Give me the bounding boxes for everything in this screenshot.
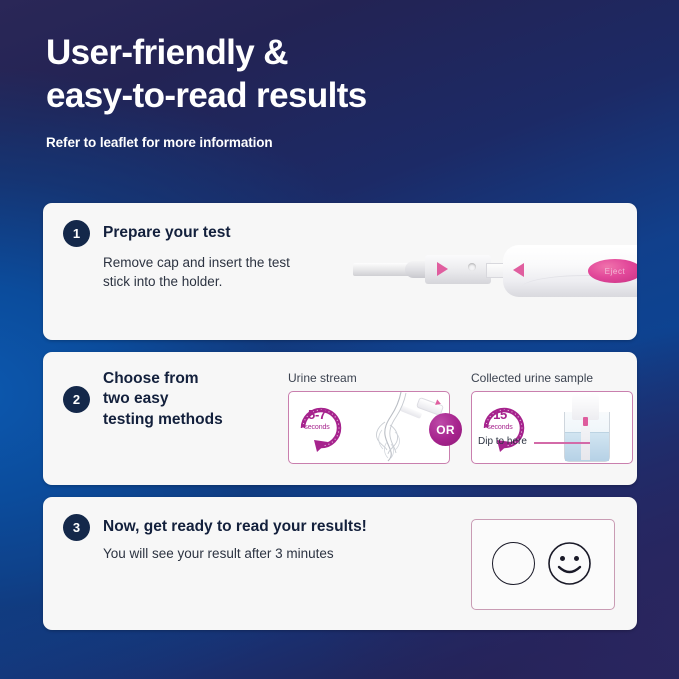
step-3-number-badge: 3 xyxy=(63,514,90,541)
timer-text-stream: 5-7 seconds xyxy=(295,407,339,431)
dip-to-here-label: Dip to here xyxy=(478,436,527,447)
step-1-number-badge: 1 xyxy=(63,220,90,247)
method-box-urine-stream: 5-7 seconds xyxy=(288,391,450,464)
step-card-2: 2 Choose from two easy testing methods U… xyxy=(43,352,637,485)
empty-circle-icon xyxy=(492,542,535,585)
step-card-1: 1 Prepare your test Remove cap and inser… xyxy=(43,203,637,340)
page-header: User-friendly & easy-to-read results Ref… xyxy=(46,32,606,150)
timer-unit-stream: seconds xyxy=(295,424,339,431)
step-1-header: 1 Prepare your test xyxy=(63,220,231,247)
smiley-face-icon xyxy=(548,542,591,585)
method-box-collected-sample: 15 seconds Dip to here xyxy=(471,391,633,464)
step-card-3: 3 Now, get ready to read your results! Y… xyxy=(43,497,637,630)
step-3-header: 3 Now, get ready to read your results! xyxy=(63,514,367,541)
eject-button[interactable]: Eject xyxy=(588,259,637,283)
timer-value-sample: 15 xyxy=(493,407,507,422)
timer-unit-sample: seconds xyxy=(478,424,522,431)
result-display-box xyxy=(471,519,615,610)
timer-value-stream: 5-7 xyxy=(308,407,326,422)
stick-body xyxy=(425,255,491,284)
step-1-body: Remove cap and insert the test stick int… xyxy=(103,253,290,291)
arrow-left-icon xyxy=(513,263,524,277)
step-3-body: You will see your result after 3 minutes xyxy=(103,544,334,563)
test-stick-holder-illustration: Eject xyxy=(353,241,637,303)
timer-15-seconds-icon: 15 seconds xyxy=(478,398,534,456)
method-label-urine-stream: Urine stream xyxy=(288,371,357,385)
or-badge: OR xyxy=(429,413,462,446)
page-title: User-friendly & easy-to-read results xyxy=(46,32,606,117)
page-subtitle: Refer to leaflet for more information xyxy=(46,135,606,150)
timer-text-sample: 15 seconds xyxy=(478,407,522,431)
promo-page: User-friendly & easy-to-read results Ref… xyxy=(0,0,679,679)
timer-5-7-seconds-icon: 5-7 seconds xyxy=(295,398,351,456)
dip-indicator-line xyxy=(534,442,590,444)
step-1-title: Prepare your test xyxy=(103,223,231,243)
stick-window-dot xyxy=(468,263,476,271)
arrow-right-icon xyxy=(437,262,448,276)
step-2-header: 2 Choose from two easy testing methods xyxy=(63,369,223,430)
step-3-title: Now, get ready to read your results! xyxy=(103,517,367,537)
method-label-collected-sample: Collected urine sample xyxy=(471,371,593,385)
step-2-number-badge: 2 xyxy=(63,386,90,413)
dip-pink-marker xyxy=(583,417,588,426)
step-2-title: Choose from two easy testing methods xyxy=(103,369,223,430)
